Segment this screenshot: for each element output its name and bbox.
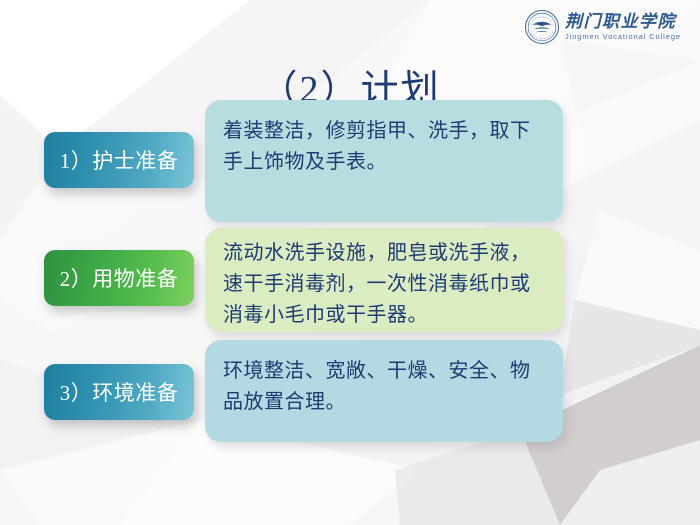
label-environment-preparation[interactable]: 3）环境准备 [44, 364, 194, 420]
brand-text: 荆门职业学院 Jingmen Vocational College [565, 13, 681, 41]
brand-name-cn: 荆门职业学院 [565, 13, 681, 30]
label-nurse-preparation[interactable]: 1）护士准备 [44, 132, 194, 188]
label-text: 3）环境准备 [60, 377, 179, 407]
label-supplies-preparation[interactable]: 2）用物准备 [44, 250, 194, 306]
content-box-nurse-preparation: 着装整洁，修剪指甲、洗手，取下手上饰物及手表。 [205, 100, 563, 222]
content-box-environment-preparation: 环境整洁、宽敞、干燥、安全、物品放置合理。 [205, 340, 563, 442]
content-box-supplies-preparation: 流动水洗手设施，肥皂或洗手液，速干手消毒剂，一次性消毒纸巾或消毒小毛巾或干手器。 [205, 228, 563, 332]
content-text: 环境整洁、宽敞、干燥、安全、物品放置合理。 [223, 356, 549, 418]
label-text: 1）护士准备 [60, 145, 179, 175]
jingmen-college-seal-icon [524, 9, 560, 45]
brand-name-en: Jingmen Vocational College [565, 33, 681, 41]
brand-logo: 荆门职业学院 Jingmen Vocational College [524, 6, 692, 48]
content-text: 流动水洗手设施，肥皂或洗手液，速干手消毒剂，一次性消毒纸巾或消毒小毛巾或干手器。 [223, 238, 549, 331]
content-text: 着装整洁，修剪指甲、洗手，取下手上饰物及手表。 [223, 116, 549, 178]
label-text: 2）用物准备 [60, 263, 179, 293]
presentation-slide: 荆门职业学院 Jingmen Vocational College （2）计划 … [0, 0, 700, 525]
